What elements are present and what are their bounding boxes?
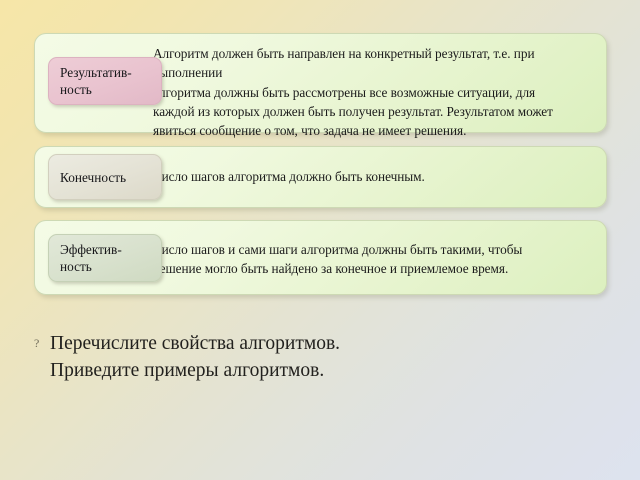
question-mark-bullet-icon: ? [34, 330, 50, 350]
slide-canvas: Алгоритм должен быть направлен на конкре… [0, 0, 640, 480]
question-text: Перечислите свойства алгоритмов. Приведи… [50, 330, 340, 384]
card-body-text-2: Число шагов алгоритма должно быть конечн… [153, 167, 600, 186]
question-block: ? Перечислите свойства алгоритмов. Приве… [34, 330, 340, 384]
property-label-konechnost[interactable]: Конечность [48, 154, 162, 200]
property-label-effektivnost[interactable]: Эффектив- ность [48, 234, 162, 282]
property-label-text-3: Эффектив- ность [60, 241, 122, 275]
card-body-text-1: Алгоритм должен быть направлен на конкре… [153, 44, 600, 140]
property-label-text-2: Конечность [60, 169, 126, 186]
property-label-text-1: Результатив- ность [60, 64, 132, 98]
property-label-rezultativnost[interactable]: Результатив- ность [48, 57, 162, 105]
card-body-text-3: Число шагов и сами шаги алгоритма должны… [153, 240, 600, 279]
